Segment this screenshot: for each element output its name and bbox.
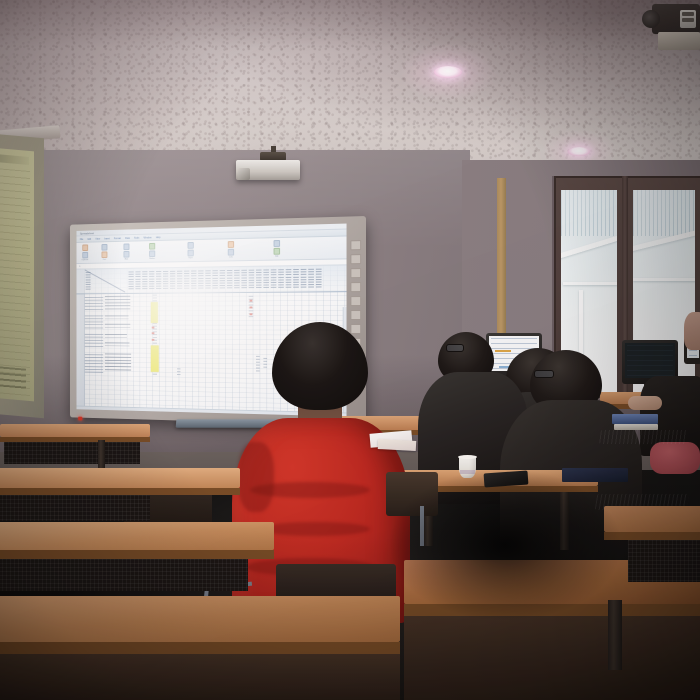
whiteboard-button-icon[interactable]	[350, 268, 361, 278]
table-header-band	[77, 265, 347, 294]
spreadsheet-title: Spreadsheet	[80, 231, 94, 235]
table-row	[105, 353, 131, 370]
formula-prefix: fx	[79, 265, 80, 267]
ribbon-group-label: Font	[103, 259, 106, 261]
table-row	[105, 315, 129, 319]
table-row	[105, 296, 130, 312]
menu-item[interactable]: Data	[125, 236, 130, 239]
table-row	[105, 342, 130, 346]
whiteboard-button-icon[interactable]	[350, 296, 361, 306]
marked-cell	[250, 306, 253, 308]
pull-down-projection-screen	[0, 134, 44, 419]
ribbon-group-label: Edit	[275, 256, 278, 258]
projector-body	[236, 160, 300, 180]
table-row	[85, 354, 103, 373]
classroom-photo: Spreadsheet File Edit View Insert Format…	[0, 0, 700, 700]
highlighted-cell[interactable]	[151, 302, 158, 323]
table-column	[177, 368, 181, 376]
ribbon-group-label: Clipboard	[81, 259, 88, 261]
downlight-icon	[568, 147, 590, 156]
ribbon-group-label: Number	[149, 258, 155, 260]
marked-cell	[250, 300, 253, 302]
ribbon-group-label: Align	[125, 258, 129, 260]
table-row	[105, 324, 130, 328]
wall-mounted-projector	[644, 0, 700, 56]
ribbon-group-label: Styles	[188, 257, 193, 259]
menu-item[interactable]: File	[80, 238, 83, 241]
table-row	[105, 334, 127, 338]
whiteboard-button-icon[interactable]	[350, 310, 361, 320]
whiteboard-button-icon[interactable]	[350, 240, 361, 250]
marked-cell	[152, 339, 155, 341]
projector-lens-icon	[642, 10, 660, 28]
downlight-icon	[434, 66, 462, 78]
menu-item[interactable]: Edit	[87, 237, 91, 240]
menu-item[interactable]: Help	[156, 236, 161, 239]
menu-item[interactable]: Window	[144, 236, 152, 239]
menu-item[interactable]: View	[95, 237, 100, 240]
marked-cell	[152, 327, 155, 329]
foreground-shadow	[390, 470, 620, 620]
table-row	[85, 334, 103, 349]
marked-cell	[152, 332, 155, 334]
head	[272, 322, 368, 410]
ribbon-group-label: Cells	[229, 256, 233, 258]
keyboard[interactable]	[599, 430, 687, 444]
highlighted-cell[interactable]	[151, 345, 159, 371]
book-stack[interactable]	[612, 414, 658, 424]
glasses-icon	[446, 344, 464, 352]
hand-on-keyboard	[628, 396, 662, 410]
menu-item[interactable]: Insert	[104, 237, 109, 240]
status-led-icon	[78, 417, 82, 421]
ceiling-projector	[232, 156, 306, 186]
menu-item[interactable]: Format	[114, 237, 121, 240]
table-row	[85, 297, 103, 312]
red-object-on-desk	[650, 442, 700, 474]
whiteboard-button-icon[interactable]	[350, 254, 361, 264]
menu-item[interactable]: Tools	[134, 236, 139, 239]
whiteboard-button-icon[interactable]	[350, 282, 361, 292]
projector-lens-icon	[238, 168, 250, 180]
papers-on-desk[interactable]	[378, 439, 416, 451]
glasses-icon	[534, 370, 554, 378]
marked-cell	[250, 313, 253, 315]
table-row	[85, 315, 103, 330]
